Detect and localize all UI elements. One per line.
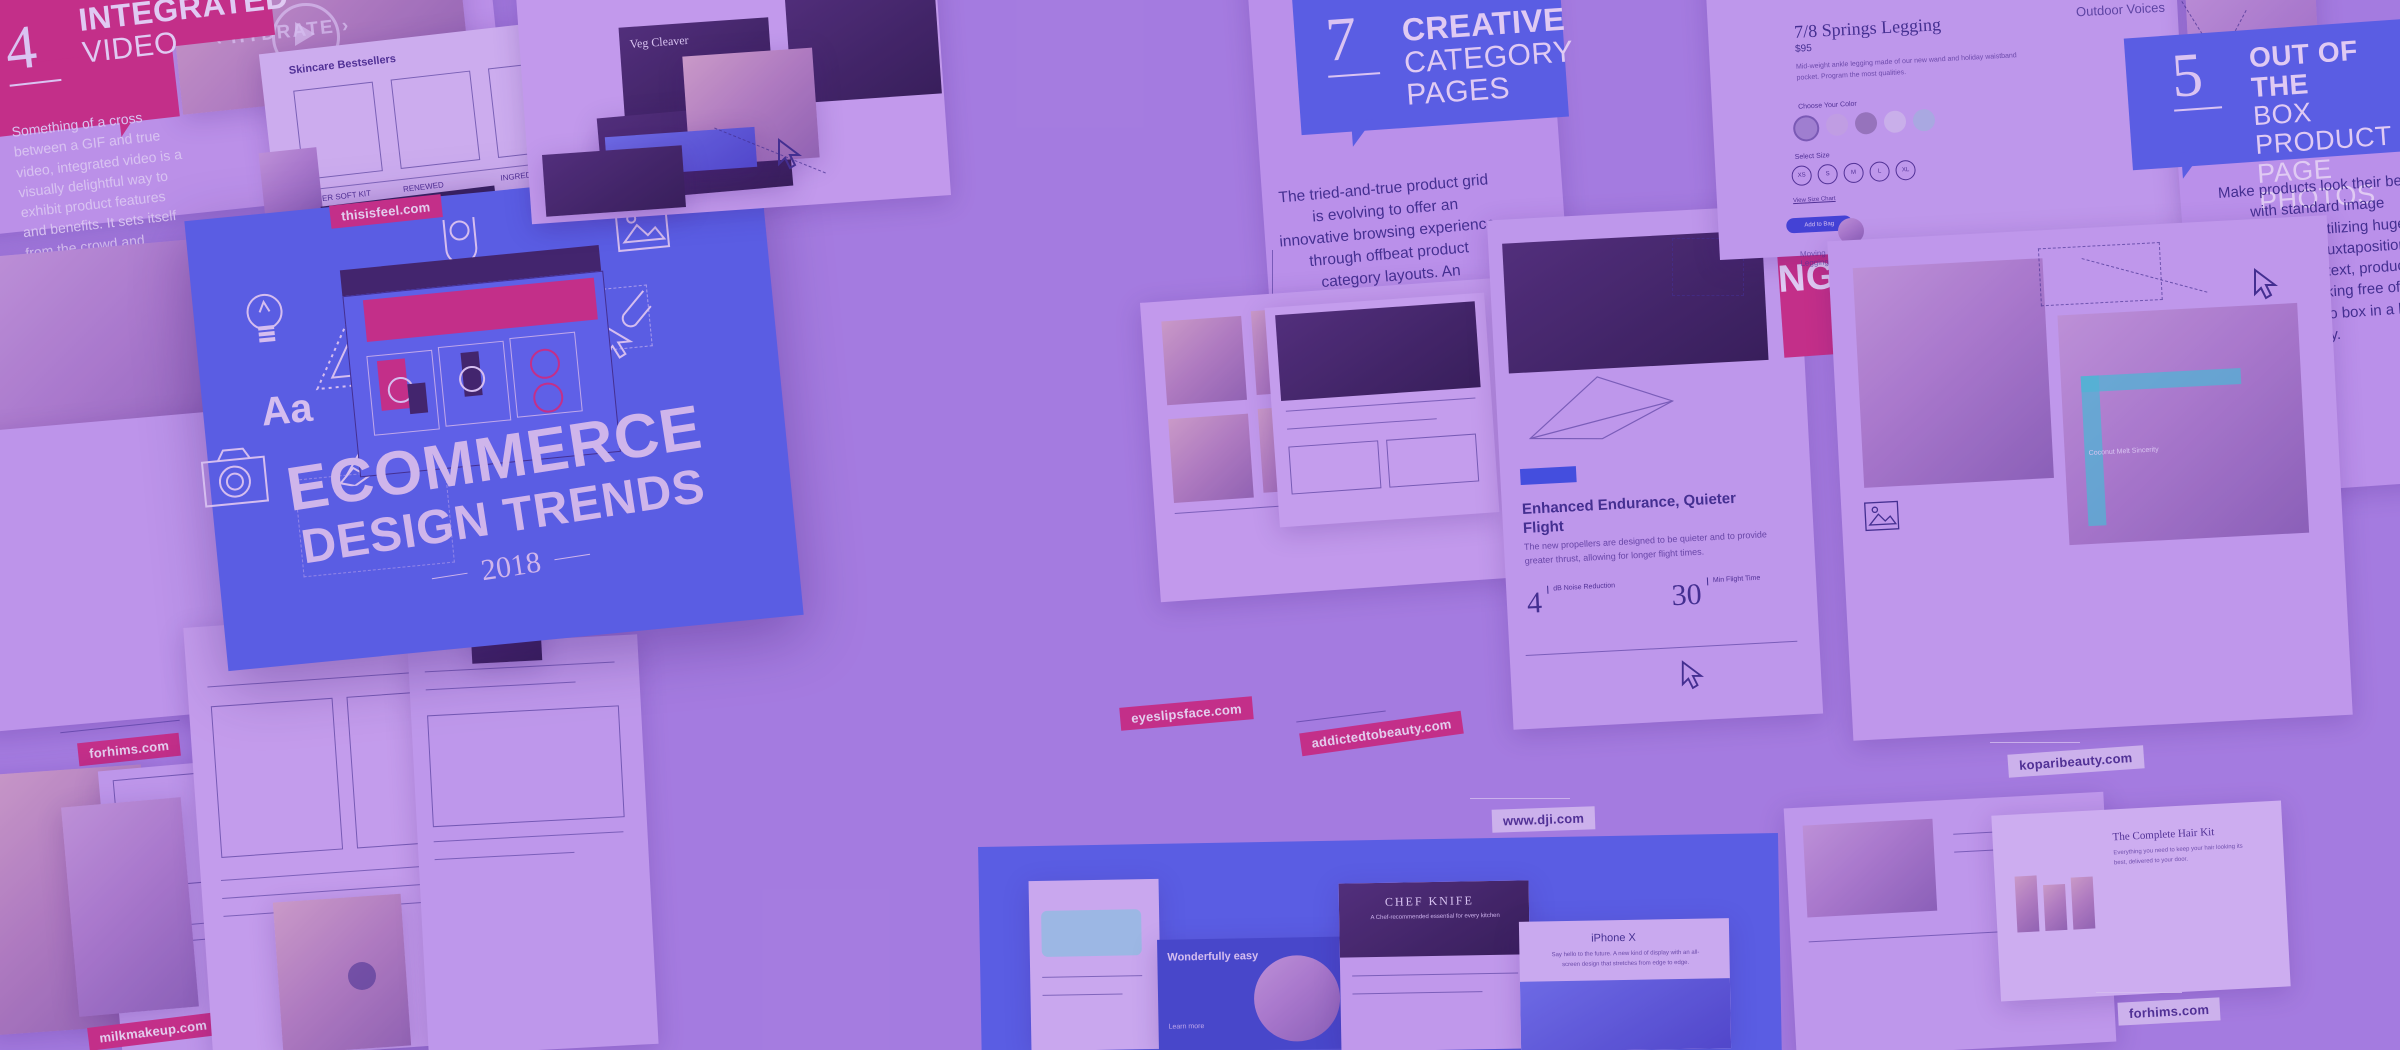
screenshot-product-list xyxy=(407,634,658,1050)
url-badge[interactable]: www.dji.com xyxy=(1492,806,1596,833)
iphone-heading: iPhone X xyxy=(1591,932,1636,945)
color-swatch[interactable] xyxy=(1912,109,1935,132)
legging-color-label: Choose Your Color xyxy=(1798,101,1857,111)
cursor-arrow-icon[interactable] xyxy=(1680,660,1704,690)
screenshot-makeup-product-photo xyxy=(273,894,411,1050)
brand-mark-icon xyxy=(348,962,376,990)
screenshot-dji-drone-page: Enhanced Endurance, Quieter Flight The n… xyxy=(1487,204,1823,730)
screenshot-outdoorvoices-legging-page: 7/8 Springs Legging $95 Mid-weight ankle… xyxy=(1701,0,2190,260)
screenshot-hair-kit-products: The Complete Hair Kit Everything you nee… xyxy=(1991,801,2290,1002)
screenshot-wonderfully-easy-page xyxy=(1029,879,1162,1050)
lightbulb-icon xyxy=(240,288,292,354)
color-swatch[interactable] xyxy=(1883,110,1906,133)
callout-4-number: 4 xyxy=(3,17,62,86)
wonderfully-easy-cta[interactable]: Learn more xyxy=(1169,1023,1205,1031)
typography-aa-glyph: Aa xyxy=(259,386,314,436)
legging-title: 7/8 Springs Legging xyxy=(1794,14,1942,43)
color-swatch[interactable] xyxy=(1854,112,1877,135)
callout-7-number: 7 xyxy=(1324,10,1380,77)
size-option[interactable]: M xyxy=(1843,162,1864,183)
legging-description: Mid-weight ankle legging made of our new… xyxy=(1796,50,2027,84)
url-badge[interactable]: forhims.com xyxy=(77,733,181,767)
size-option[interactable]: S xyxy=(1817,164,1838,185)
legging-size-chart-link[interactable]: View Size Chart xyxy=(1793,196,1836,204)
screenshot-beauty-model xyxy=(61,797,199,1017)
url-badge[interactable]: koparibeauty.com xyxy=(2007,745,2144,777)
size-option[interactable]: L xyxy=(1869,161,1890,182)
callout-5-number: 5 xyxy=(2170,46,2222,111)
url-badge[interactable]: forhims.com xyxy=(2117,997,2220,1025)
skincare-heading: Skincare Bestsellers xyxy=(288,53,396,77)
hair-kit-body: Everything you need to keep your hair lo… xyxy=(2113,842,2254,868)
legging-size-label: Select Size xyxy=(1795,152,1830,161)
size-option[interactable]: XS xyxy=(1791,165,1812,186)
screenshot-chef-knife-page: CHEF KNIFE A Chef-recommended essential … xyxy=(1339,880,1532,1050)
hair-kit-heading: The Complete Hair Kit xyxy=(2112,826,2214,843)
play-triangle-icon xyxy=(295,22,315,46)
callout-4-body: Something of a cross between a GIF and t… xyxy=(10,103,193,263)
cursor-arrow-icon[interactable] xyxy=(776,138,802,170)
screenshot-dark-tool-page xyxy=(1265,293,1500,528)
size-option[interactable]: XL xyxy=(1895,160,1916,181)
legging-price: $95 xyxy=(1795,43,1812,55)
drone-stat: 4 dB Noise Reduction xyxy=(1526,582,1617,621)
hero-card: Aa xyxy=(184,165,803,671)
hero-title-block: ECOMMERCE DESIGN TRENDS 2018 xyxy=(243,390,761,621)
chef-knife-brand: CHEF KNIFE xyxy=(1385,893,1474,910)
url-badge[interactable]: eyeslipsface.com xyxy=(1119,696,1253,730)
cursor-arrow-icon[interactable] xyxy=(2252,268,2278,300)
callout-7-title: CREATIVE CATEGORY PAGES xyxy=(1401,2,1577,111)
iphone-body: Say hello to the future. A new kind of d… xyxy=(1545,949,1705,971)
callout-7-tail xyxy=(1351,119,1375,146)
image-placeholder-icon xyxy=(1863,500,1901,532)
color-swatch[interactable] xyxy=(1793,115,1820,142)
screenshot-wonderfully-easy-hero: Wonderfully easy Learn more xyxy=(1157,936,1369,1050)
color-swatch[interactable] xyxy=(1826,113,1849,136)
screenshot-iphone-x-page: iPhone X Say hello to the future. A new … xyxy=(1519,918,1731,1050)
callout-5-tail xyxy=(2181,151,2205,178)
drone-stat: 30 Min Flight Time xyxy=(1671,575,1762,614)
screenshot-envelope-tile xyxy=(542,145,686,217)
collage-canvas: ‹ HYDRATE › Skincare Bestsellers SUPER S… xyxy=(0,0,2400,1050)
wonderfully-easy-heading: Wonderfully easy xyxy=(1167,950,1258,964)
